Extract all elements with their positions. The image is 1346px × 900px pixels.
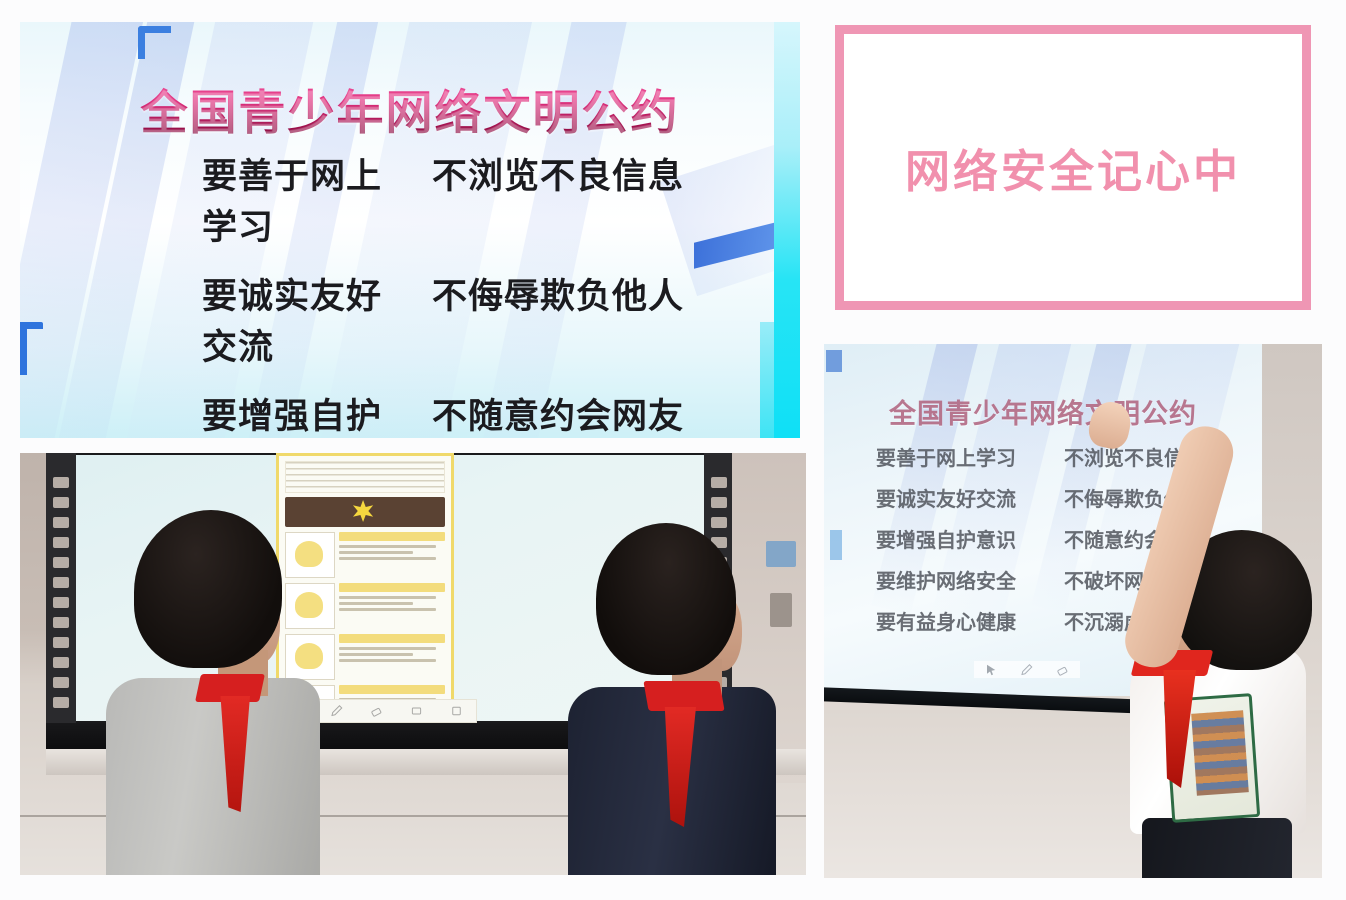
slide-text-block [339, 583, 445, 629]
pledge-list: 要善于网上学习 不浏览不良信息 要诚实友好交流 不侮辱欺负他人 要增强自护意识 … [20, 148, 800, 438]
pledge-right-2: 不侮辱欺负他人 [410, 268, 728, 370]
pledge-left-3: 要增强自护意识 [92, 388, 410, 438]
pledge-right-3: 不随意约会网友 [410, 388, 728, 438]
shape-icon[interactable] [410, 705, 423, 717]
network-civility-pledge-poster: 全国青少年网络文明公约 要善于网上学习 不浏览不良信息 要诚实友好交流 不侮辱欺… [20, 22, 800, 438]
student-right-red-scarf [643, 681, 724, 711]
slogan-text-box: 网络安全记心中 [835, 25, 1311, 310]
student-left-shirt [106, 678, 320, 875]
decor-corner-bracket [138, 26, 171, 59]
slide-text-block [339, 634, 445, 680]
cursor-icon[interactable] [985, 664, 998, 676]
menu-icon[interactable] [450, 705, 463, 717]
boy-pointing-hand [1086, 398, 1135, 451]
poster-title: 全国青少年网络文明公约 [20, 74, 800, 143]
slide-paragraph [285, 461, 445, 493]
boy-trousers [1142, 818, 1292, 878]
photo-students-viewing-whiteboard [20, 453, 806, 875]
pledge-left-1: 要善于网上学习 [92, 148, 410, 250]
decor-corner-block [826, 350, 842, 372]
photo-boy-pointing-at-screen: 全国青少年网络文明公约 要善于网上学习 不浏览不良信息 要诚实友好交流 不侮辱欺… [824, 344, 1322, 878]
eraser-icon[interactable] [370, 705, 383, 717]
slide-text-block [339, 532, 445, 578]
student-right-head [596, 523, 736, 675]
pledge-left-2: 要诚实友好交流 [92, 268, 410, 370]
pledge-row: 要善于网上学习 不浏览不良信息 [20, 148, 800, 250]
boy-tshirt-graphic-inner [1191, 710, 1249, 795]
whiteboard-left-button-strip [46, 453, 76, 749]
pledge-right-1: 不浏览不良信息 [410, 148, 728, 250]
student-left-head [134, 510, 282, 668]
student-left [106, 510, 336, 875]
slogan-text: 网络安全记心中 [905, 135, 1241, 200]
student-right [560, 523, 786, 875]
pointing-boy [1022, 378, 1322, 878]
pledge-row: 要诚实友好交流 不侮辱欺负他人 [20, 268, 800, 370]
pledge-row: 要增强自护意识 不随意约会网友 [20, 388, 800, 438]
